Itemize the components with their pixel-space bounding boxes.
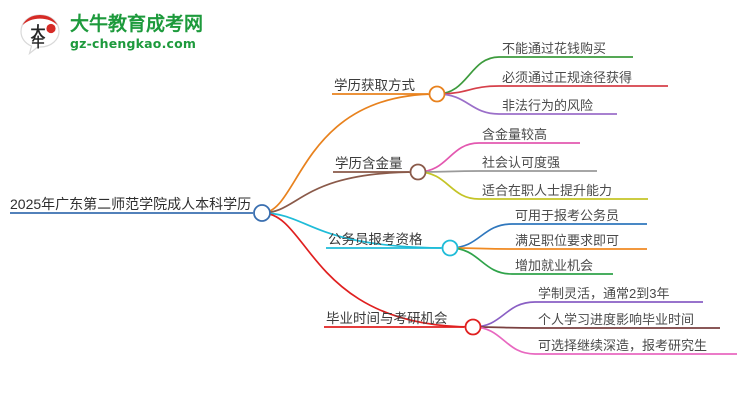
node-circle-branch-1[interactable] bbox=[430, 87, 445, 102]
link-root-to-branch-4 bbox=[262, 213, 473, 327]
leaf-node-label-2-2[interactable]: 社会认可度强 bbox=[482, 155, 560, 170]
leaf-node-label-3-2[interactable]: 满足职位要求即可 bbox=[515, 233, 619, 248]
link-branch-4-child-1 bbox=[473, 302, 535, 327]
leaf-node-label-1-3[interactable]: 非法行为的风险 bbox=[502, 98, 593, 113]
leaf-node-label-2-1[interactable]: 含金量较高 bbox=[482, 127, 547, 142]
mindmap-canvas: 2025年广东第二师范学院成人本科学历 学历获取方式 学历含金量 公务员报考资格… bbox=[0, 0, 750, 410]
node-circle-root[interactable] bbox=[254, 205, 270, 221]
leaf-node-label-3-1[interactable]: 可用于报考公务员 bbox=[515, 208, 619, 223]
node-circle-branch-4[interactable] bbox=[466, 320, 481, 335]
root-node-label[interactable]: 2025年广东第二师范学院成人本科学历 bbox=[10, 196, 251, 212]
branch-node-label-4[interactable]: 毕业时间与考研机会 bbox=[326, 311, 448, 326]
link-branch-3-child-3 bbox=[450, 248, 512, 274]
link-root-to-branch-1 bbox=[262, 94, 437, 213]
link-branch-2-child-3 bbox=[418, 172, 479, 199]
branch-node-label-2[interactable]: 学历含金量 bbox=[335, 156, 403, 171]
node-circle-branch-3[interactable] bbox=[443, 241, 458, 256]
link-branch-1-child-3 bbox=[437, 94, 499, 114]
leaf-node-label-4-2[interactable]: 个人学习进度影响毕业时间 bbox=[538, 312, 694, 327]
link-branch-3-child-1 bbox=[450, 224, 512, 248]
leaf-node-label-2-3[interactable]: 适合在职人士提升能力 bbox=[482, 183, 612, 198]
branch-node-label-3[interactable]: 公务员报考资格 bbox=[328, 232, 423, 247]
leaf-node-label-3-3[interactable]: 增加就业机会 bbox=[515, 258, 593, 273]
link-branch-1-child-1 bbox=[437, 57, 499, 94]
leaf-node-label-4-3[interactable]: 可选择继续深造，报考研究生 bbox=[538, 338, 707, 353]
link-branch-2-child-1 bbox=[418, 143, 479, 172]
link-branch-2-child-2 bbox=[418, 171, 479, 172]
link-branch-1-child-2 bbox=[437, 86, 499, 94]
leaf-node-label-1-2[interactable]: 必须通过正规途径获得 bbox=[502, 70, 632, 85]
link-root-to-branch-2 bbox=[262, 172, 418, 213]
leaf-node-label-1-1[interactable]: 不能通过花钱购买 bbox=[502, 41, 606, 56]
link-branch-4-child-3 bbox=[473, 327, 535, 354]
leaf-node-label-4-1[interactable]: 学制灵活，通常2到3年 bbox=[538, 286, 669, 301]
branch-node-label-1[interactable]: 学历获取方式 bbox=[334, 78, 415, 93]
node-circle-branch-2[interactable] bbox=[411, 165, 426, 180]
